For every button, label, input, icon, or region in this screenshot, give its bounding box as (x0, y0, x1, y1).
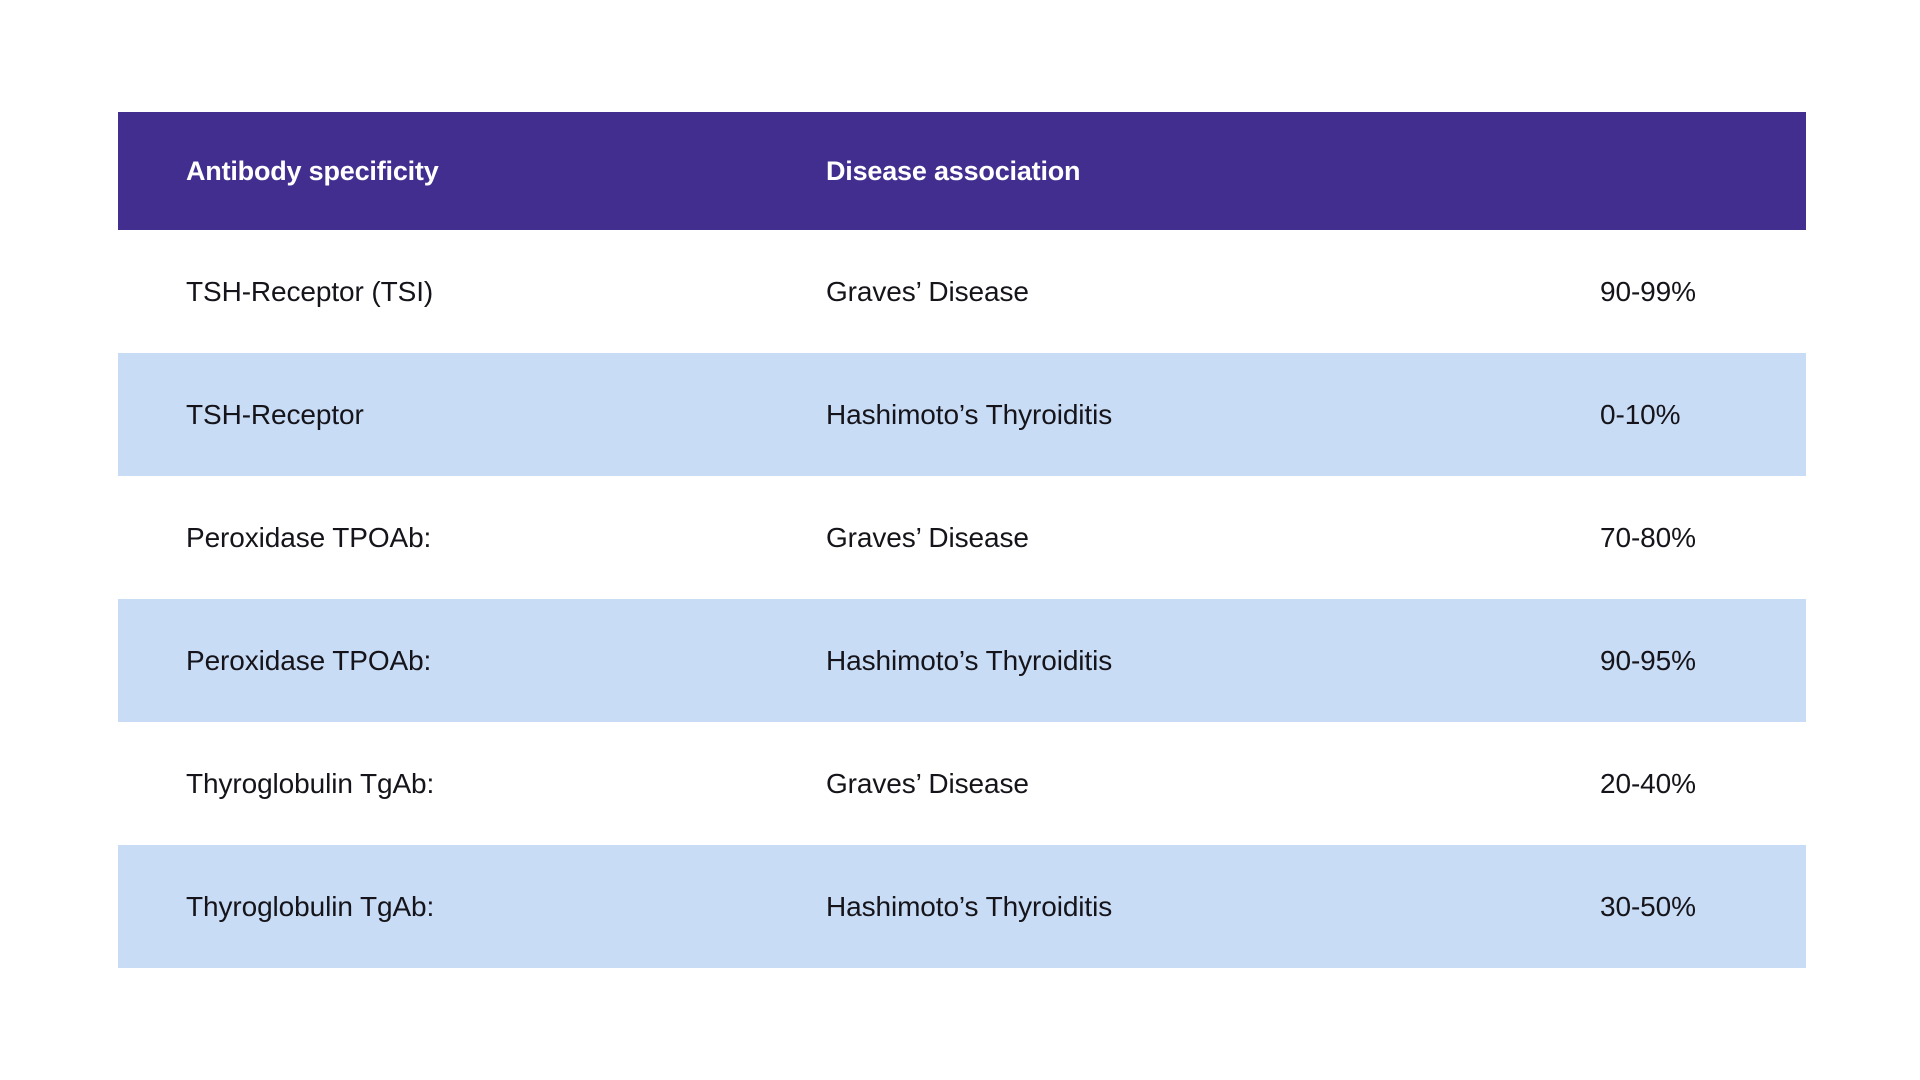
table-row: TSH-Receptor (TSI) Graves’ Disease 90-99… (118, 230, 1806, 353)
antibody-disease-table: Antibody specificity Disease association… (118, 112, 1806, 968)
cell-prevalence: 20-40% (1600, 722, 1806, 845)
table-body: TSH-Receptor (TSI) Graves’ Disease 90-99… (118, 230, 1806, 968)
column-header-antibody-specificity: Antibody specificity (118, 112, 758, 230)
cell-disease-association: Graves’ Disease (758, 476, 1600, 599)
cell-antibody-specificity: Thyroglobulin TgAb: (118, 722, 758, 845)
table-row: Thyroglobulin TgAb: Graves’ Disease 20-4… (118, 722, 1806, 845)
cell-antibody-specificity: TSH-Receptor (TSI) (118, 230, 758, 353)
table-header-row: Antibody specificity Disease association (118, 112, 1806, 230)
cell-antibody-specificity: Thyroglobulin TgAb: (118, 845, 758, 968)
table-row: TSH-Receptor Hashimoto’s Thyroiditis 0-1… (118, 353, 1806, 476)
cell-prevalence: 30-50% (1600, 845, 1806, 968)
cell-antibody-specificity: Peroxidase TPOAb: (118, 476, 758, 599)
table-row: Thyroglobulin TgAb: Hashimoto’s Thyroidi… (118, 845, 1806, 968)
cell-prevalence: 0-10% (1600, 353, 1806, 476)
cell-antibody-specificity: Peroxidase TPOAb: (118, 599, 758, 722)
cell-disease-association: Hashimoto’s Thyroiditis (758, 353, 1600, 476)
cell-disease-association: Graves’ Disease (758, 230, 1600, 353)
cell-disease-association: Hashimoto’s Thyroiditis (758, 599, 1600, 722)
cell-antibody-specificity: TSH-Receptor (118, 353, 758, 476)
cell-prevalence: 90-95% (1600, 599, 1806, 722)
cell-disease-association: Graves’ Disease (758, 722, 1600, 845)
table-header: Antibody specificity Disease association (118, 112, 1806, 230)
cell-prevalence: 70-80% (1600, 476, 1806, 599)
cell-prevalence: 90-99% (1600, 230, 1806, 353)
table-row: Peroxidase TPOAb: Hashimoto’s Thyroiditi… (118, 599, 1806, 722)
cell-disease-association: Hashimoto’s Thyroiditis (758, 845, 1600, 968)
page-canvas: Antibody specificity Disease association… (0, 0, 1920, 1080)
column-header-prevalence (1600, 112, 1806, 230)
table-row: Peroxidase TPOAb: Graves’ Disease 70-80% (118, 476, 1806, 599)
column-header-disease-association: Disease association (758, 112, 1600, 230)
